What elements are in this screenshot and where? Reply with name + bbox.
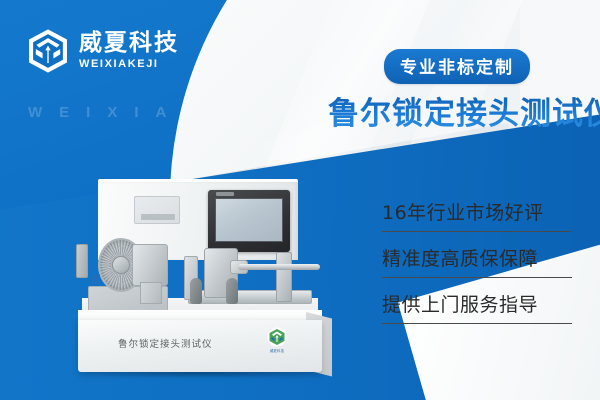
machine-clamp-right (276, 252, 292, 302)
machine-motor-foot (140, 282, 162, 304)
logo-company-name-en: WEIXIAKEJI (79, 59, 179, 70)
brand-logo[interactable]: 威夏科技 WEIXIAKEJI (26, 28, 179, 74)
product-image: 鲁尔锁定接头测试仪 威夏科技 (70, 182, 370, 382)
logo-company-name-cn: 威夏科技 (79, 32, 179, 55)
custom-service-badge: 专业非标定制 (384, 49, 530, 84)
machine-base-logo-caption: 威夏科技 (270, 348, 284, 353)
hexagon-shield-logo-icon (26, 28, 70, 74)
machine-blue-accent (92, 274, 100, 284)
machine-base: 鲁尔锁定接头测试仪 威夏科技 (78, 320, 322, 372)
machine-motor-block (132, 244, 168, 286)
machine-base-logo-icon: 威夏科技 (264, 327, 290, 357)
watermark-text: WEIXIAK (28, 104, 211, 121)
machine-post (190, 278, 202, 304)
hmi-brand-mark-icon (216, 192, 234, 196)
machine-wheel-hub (112, 256, 130, 274)
machine-post (226, 278, 238, 304)
feature-text: 提供上门服务指导 (382, 288, 578, 323)
machine-push-rod (238, 264, 320, 270)
product-banner: WEIXIAK 威夏科技 WEIXIAKEJI 专业非标定制 鲁尔锁定接头测试仪… (0, 0, 600, 400)
list-item: 16年行业市场好评 (382, 196, 578, 232)
machine-bracket-plate (134, 196, 180, 224)
machine-base-label: 鲁尔锁定接头测试仪 (118, 336, 213, 350)
hmi-screen[interactable] (215, 198, 283, 242)
page-title: 鲁尔锁定接头测试仪 (328, 88, 600, 133)
feature-divider (382, 277, 572, 278)
machine-hmi-display (208, 190, 290, 252)
feature-text: 16年行业市场好评 (382, 196, 578, 231)
feature-divider (382, 231, 572, 232)
feature-divider (382, 323, 572, 324)
list-item: 精准度高质保保障 (382, 242, 578, 278)
list-item: 提供上门服务指导 (382, 288, 578, 324)
feature-list: 16年行业市场好评 精准度高质保保障 提供上门服务指导 (382, 196, 578, 334)
machine-wheel-arm (76, 244, 88, 278)
feature-text: 精准度高质保保障 (382, 242, 578, 277)
